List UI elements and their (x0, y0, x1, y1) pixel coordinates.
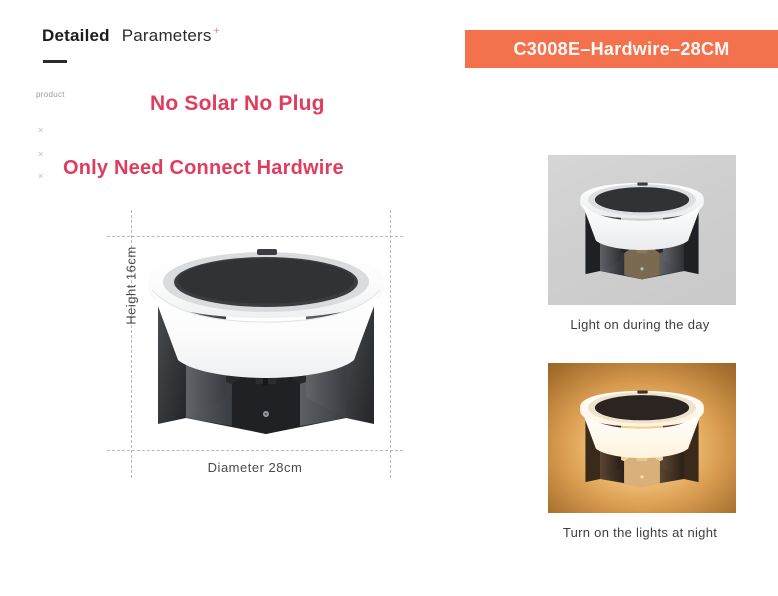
broken-image-icon: × (38, 172, 43, 181)
lamp-photo-night-graphic (576, 389, 708, 493)
lamp-illustration (140, 248, 392, 443)
title-underline-divider (43, 60, 67, 63)
photo-card-day: Light on during the day (548, 155, 736, 332)
page-title-light: Parameters (122, 26, 212, 46)
page-title-bold: Detailed (42, 26, 110, 46)
promo-headline-primary: No Solar No Plug (150, 92, 325, 116)
guide-line-top (107, 236, 403, 237)
broken-image-icon: × (38, 150, 43, 159)
plus-mark-icon: + (214, 27, 220, 37)
sku-banner: C3008E–Hardwire–28CM (465, 30, 778, 68)
guide-line-bottom (107, 450, 403, 451)
product-photo-day (548, 155, 736, 305)
photo-caption-night: Turn on the lights at night (546, 525, 734, 540)
lamp-photo-day-graphic (576, 181, 708, 285)
height-dimension-label: Height 16cm (124, 226, 139, 346)
promo-headline-secondary: Only Need Connect Hardwire (63, 157, 344, 180)
sku-banner-label: C3008E–Hardwire–28CM (513, 39, 729, 60)
photo-caption-day: Light on during the day (546, 317, 734, 332)
product-rail-label: product (36, 90, 65, 99)
broken-image-icon: × (38, 126, 43, 135)
photo-card-night: Turn on the lights at night (548, 363, 736, 540)
product-dimension-diagram: Height 16cm Diameter 28cm (95, 200, 415, 490)
product-photo-night (548, 363, 736, 513)
page-title: Detailed Parameters + (42, 26, 219, 46)
diameter-dimension-label: Diameter 28cm (95, 460, 415, 475)
